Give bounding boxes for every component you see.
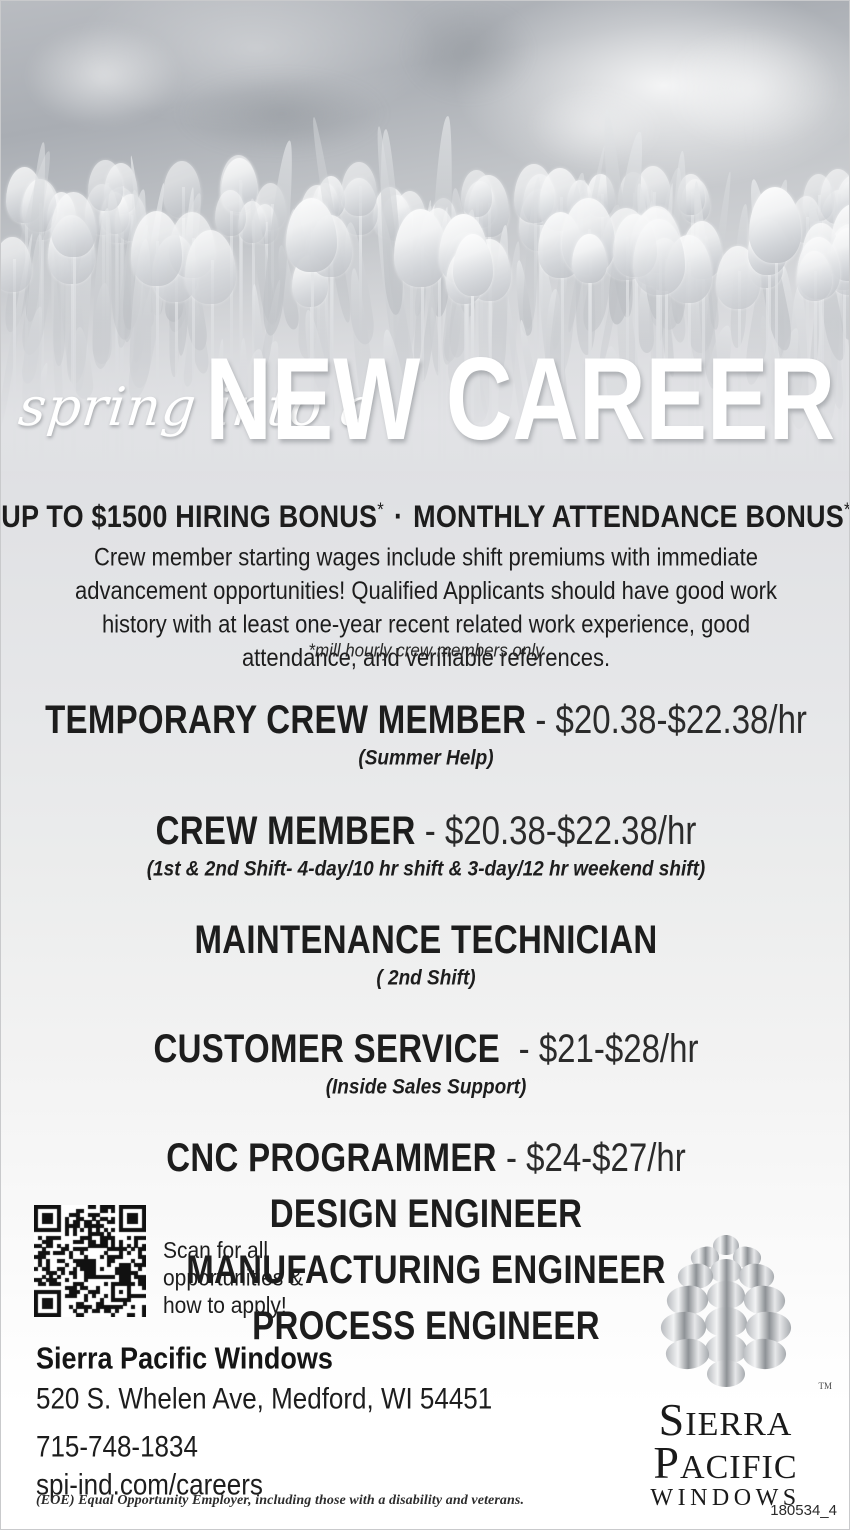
job-listing: CREW MEMBER - $20.38-$22.38/hr(1st & 2nd… bbox=[1, 812, 850, 881]
qr-caption-line-2: opportunities & bbox=[163, 1265, 303, 1293]
job-pay-rate: - $20.38-$22.38/hr bbox=[526, 697, 807, 743]
bonus-separator: · bbox=[384, 498, 413, 533]
job-title: CUSTOMER SERVICE bbox=[154, 1026, 510, 1072]
headline-block: spring into a NEW CAREER bbox=[1, 369, 850, 479]
attendance-bonus-text: MONTHLY ATTENDANCE BONUS bbox=[413, 498, 844, 533]
job-title-line: MAINTENANCE TECHNICIAN bbox=[1, 921, 850, 959]
headline-main-text: NEW CAREER bbox=[205, 339, 835, 462]
company-name: Sierra Pacific Windows bbox=[36, 1341, 536, 1376]
company-address: 520 S. Whelen Ave, Medford, WI 54451 bbox=[36, 1381, 536, 1416]
qr-code-icon[interactable] bbox=[34, 1205, 146, 1317]
job-listing: CNC PROGRAMMER - $24-$27/hr bbox=[1, 1139, 850, 1177]
job-subtitle: ( 2nd Shift) bbox=[1, 967, 850, 992]
job-listing: CUSTOMER SERVICE - $21-$28/hr(Inside Sal… bbox=[1, 1030, 850, 1099]
job-title-line: CNC PROGRAMMER - $24-$27/hr bbox=[1, 1139, 850, 1177]
job-title: CREW MEMBER bbox=[156, 808, 416, 854]
job-subtitle: (Inside Sales Support) bbox=[1, 1076, 850, 1101]
reference-code: 180534_4 bbox=[770, 1502, 837, 1519]
job-title: MAINTENANCE TECHNICIAN bbox=[194, 917, 657, 963]
job-title-line: CREW MEMBER - $20.38-$22.38/hr bbox=[1, 812, 850, 850]
job-title: CNC PROGRAMMER bbox=[166, 1135, 497, 1181]
job-pay-rate: - $24-$27/hr bbox=[497, 1135, 686, 1181]
job-title: TEMPORARY CREW MEMBER bbox=[45, 697, 526, 743]
job-pay-rate: - $20.38-$22.38/hr bbox=[416, 808, 697, 854]
job-subtitle: (1st & 2nd Shift- 4-day/10 hr shift & 3-… bbox=[1, 858, 850, 883]
job-advertisement-poster: spring into a NEW CAREER UP TO $1500 HIR… bbox=[0, 0, 850, 1530]
job-listing: MAINTENANCE TECHNICIAN( 2nd Shift) bbox=[1, 921, 850, 990]
qr-caption-line-3: how to apply! bbox=[163, 1292, 303, 1320]
logo-word-pacific: PACIFIC bbox=[613, 1436, 838, 1489]
pinecone-icon bbox=[636, 1233, 816, 1393]
eoe-statement: (EOE) Equal Opportunity Employer, includ… bbox=[36, 1493, 524, 1509]
company-phone[interactable]: 715-748-1834 bbox=[36, 1429, 536, 1464]
trademark-symbol: TM bbox=[819, 1381, 833, 1391]
hiring-bonus-text: UP TO $1500 HIRING BONUS bbox=[1, 498, 377, 533]
job-title-line: TEMPORARY CREW MEMBER - $20.38-$22.38/hr bbox=[1, 701, 850, 739]
fineprint-note: *mill hourly crew members only bbox=[1, 640, 850, 662]
bonus-headline: UP TO $1500 HIRING BONUS*·MONTHLY ATTEND… bbox=[1, 498, 850, 535]
sierra-pacific-logo: TM SIERRA PACIFIC WINDOWS bbox=[613, 1233, 838, 1498]
contact-block: Sierra Pacific Windows 520 S. Whelen Ave… bbox=[36, 1341, 536, 1498]
job-title: DESIGN ENGINEER bbox=[270, 1191, 583, 1237]
job-title-line: CUSTOMER SERVICE - $21-$28/hr bbox=[1, 1030, 850, 1068]
qr-block[interactable]: Scan for all opportunities & how to appl… bbox=[34, 1205, 303, 1317]
job-pay-rate: - $21-$28/hr bbox=[510, 1026, 699, 1072]
job-subtitle: (Summer Help) bbox=[1, 747, 850, 772]
qr-caption-line-1: Scan for all bbox=[163, 1237, 303, 1265]
job-listing: TEMPORARY CREW MEMBER - $20.38-$22.38/hr… bbox=[1, 701, 850, 770]
hiring-bonus-asterisk: * bbox=[377, 498, 384, 520]
qr-caption: Scan for all opportunities & how to appl… bbox=[163, 1237, 303, 1320]
attendance-bonus-asterisk: * bbox=[844, 498, 850, 520]
